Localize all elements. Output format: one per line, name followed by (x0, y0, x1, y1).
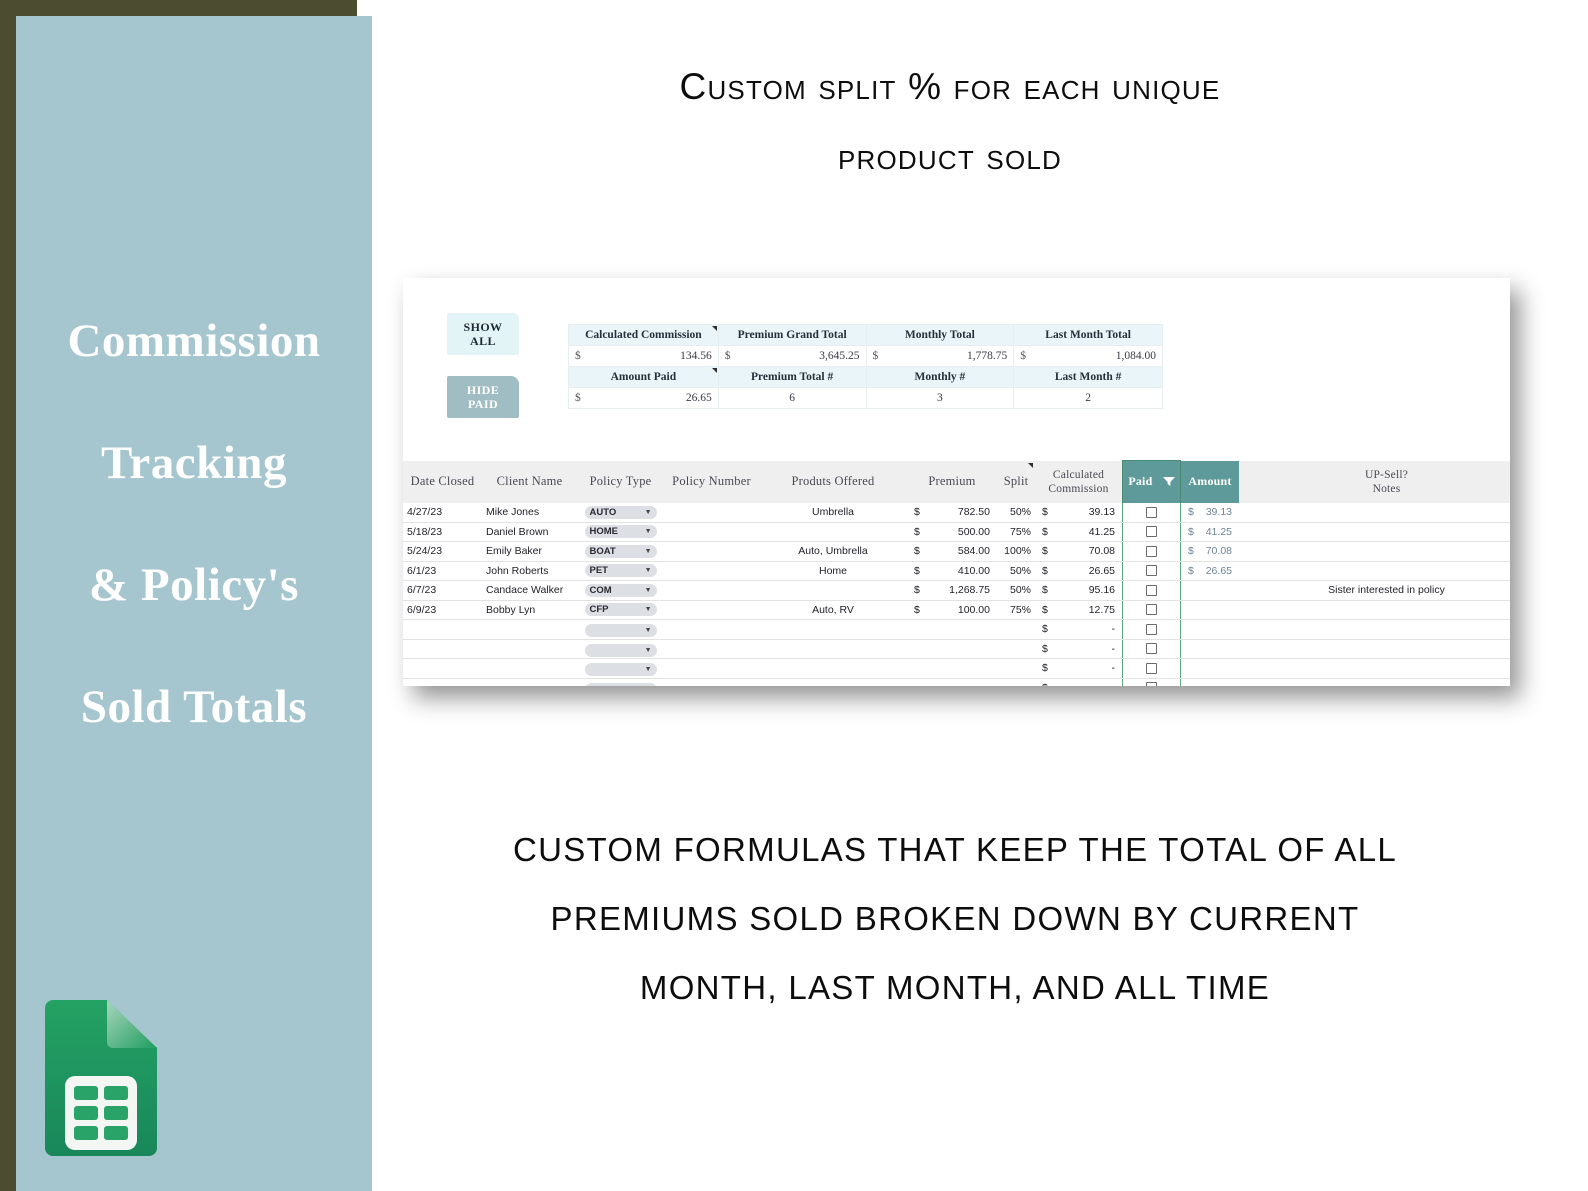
cell-split: 50% (997, 581, 1035, 601)
summary-header-calculated-commission: Calculated Commission (569, 325, 719, 346)
paid-checkbox[interactable] (1146, 585, 1157, 596)
cell-upsell-notes (1239, 542, 1510, 562)
cell-paid[interactable] (1123, 561, 1181, 581)
cell-calculated-commission: $39.13 (1035, 503, 1123, 522)
summary-value-amount-paid: $26.65 (569, 388, 719, 409)
cell-policy-number (664, 503, 759, 522)
summary-amount-premium-grand-total: 3,645.25 (819, 350, 859, 362)
cell-policy-type[interactable]: BOAT▼ (577, 542, 664, 562)
cell-date-closed: 6/1/23 (403, 561, 482, 581)
caption-line-2: PREMIUMS SOLD BROKEN DOWN BY CURRENT (400, 884, 1510, 953)
page-title-line-4: Sold Totals (16, 646, 372, 768)
policy-data-grid: Date Closed Client Name Policy Type Poli… (403, 460, 1510, 686)
cell-policy-type[interactable]: ▼ (577, 639, 664, 659)
policy-type-value: BOAT (590, 546, 616, 557)
caption-bottom: CUSTOM FORMULAS THAT KEEP THE TOTAL OF A… (400, 815, 1510, 1022)
summary-value-row-2: $26.65 6 3 2 (569, 388, 1163, 409)
premium-value: 584.00 (958, 545, 990, 557)
currency-symbol: $ (1188, 526, 1194, 538)
column-header-policy-number[interactable]: Policy Number (664, 461, 759, 504)
commission-value: - (1112, 623, 1116, 635)
cell-date-closed (403, 659, 482, 679)
chevron-down-icon: ▼ (645, 587, 652, 594)
table-row[interactable]: 4/27/23Mike JonesAUTO▼Umbrella$782.5050%… (403, 503, 1510, 522)
cell-paid[interactable] (1123, 503, 1181, 522)
currency-symbol: $ (914, 506, 920, 518)
headline-line-2: product sold (430, 122, 1470, 192)
spreadsheet-screenshot: SHOW ALL HIDE PAID Calculated Commission… (403, 278, 1510, 686)
cell-client-name (482, 659, 577, 679)
cell-premium: $584.00 (907, 542, 997, 562)
page-title-line-3: & Policy's (16, 524, 372, 646)
cell-policy-number (664, 639, 759, 659)
chevron-down-icon: ▼ (645, 509, 652, 516)
premium-value: 1,268.75 (949, 584, 990, 596)
cell-policy-type[interactable]: HOME▼ (577, 522, 664, 542)
table-row[interactable]: 5/24/23Emily BakerBOAT▼Auto, Umbrella$58… (403, 542, 1510, 562)
summary-value-calculated-commission: $134.56 (569, 346, 719, 367)
summary-value-monthly-count: 3 (866, 388, 1014, 409)
cell-calculated-commission: $- (1035, 659, 1123, 679)
table-row[interactable]: ▼$- (403, 620, 1510, 640)
summary-amount-amount-paid: 26.65 (686, 392, 712, 404)
commission-value: - (1112, 682, 1116, 686)
hide-paid-label-line-2: PAID (467, 397, 499, 411)
summary-value-last-month-count: 2 (1014, 388, 1163, 409)
paid-label: Paid (1128, 474, 1152, 488)
paid-checkbox[interactable] (1146, 507, 1157, 518)
summary-header-last-month-count: Last Month # (1014, 367, 1163, 388)
show-all-label-line-2: ALL (464, 334, 503, 348)
table-row[interactable]: ▼$- (403, 659, 1510, 679)
cell-date-closed: 4/27/23 (403, 503, 482, 522)
amount-value: 26.65 (1206, 565, 1232, 577)
summary-value-premium-grand-total: $3,645.25 (718, 346, 866, 367)
paid-checkbox[interactable] (1146, 663, 1157, 674)
cell-policy-type[interactable]: AUTO▼ (577, 503, 664, 522)
cell-date-closed: 5/18/23 (403, 522, 482, 542)
cell-client-name (482, 639, 577, 659)
policy-type-dropdown[interactable]: BOAT▼ (585, 545, 657, 558)
chevron-down-icon: ▼ (645, 647, 652, 654)
commission-value: 70.08 (1089, 545, 1115, 557)
cell-policy-number (664, 600, 759, 620)
policy-type-dropdown[interactable]: ▼ (585, 663, 657, 676)
column-header-date-closed[interactable]: Date Closed (403, 461, 482, 504)
summary-value-row-1: $134.56 $3,645.25 $1,778.75 $1,084.00 (569, 346, 1163, 367)
grid-header-row: Date Closed Client Name Policy Type Poli… (403, 461, 1510, 504)
cell-split: 75% (997, 600, 1035, 620)
column-header-client-name[interactable]: Client Name (482, 461, 577, 504)
cell-policy-type[interactable]: ▼ (577, 678, 664, 686)
cell-client-name: John Roberts (482, 561, 577, 581)
table-row[interactable]: 6/9/23Bobby LynCFP▼Auto, RV$100.0075%$12… (403, 600, 1510, 620)
table-row[interactable]: 6/7/23Candace WalkerCOM▼$1,268.7550%$95.… (403, 581, 1510, 601)
currency-symbol: $ (575, 392, 581, 404)
currency-symbol: $ (1042, 604, 1048, 616)
cell-premium: $1,268.75 (907, 581, 997, 601)
cell-split (997, 678, 1035, 686)
cell-calculated-commission: $- (1035, 639, 1123, 659)
commission-value: 12.75 (1089, 604, 1115, 616)
policy-type-value: AUTO (590, 507, 617, 518)
currency-symbol: $ (873, 350, 879, 362)
currency-symbol: $ (1042, 506, 1048, 518)
cell-paid[interactable] (1123, 620, 1181, 640)
cell-policy-number (664, 522, 759, 542)
policy-type-dropdown[interactable]: ▼ (585, 683, 657, 687)
cell-upsell-notes (1239, 522, 1510, 542)
cell-date-closed (403, 678, 482, 686)
paid-checkbox[interactable] (1146, 624, 1157, 635)
currency-symbol: $ (1042, 623, 1048, 635)
cell-split (997, 620, 1035, 640)
cell-products-offered (759, 659, 907, 679)
paid-checkbox[interactable] (1146, 643, 1157, 654)
cell-client-name (482, 678, 577, 686)
column-header-premium[interactable]: Premium (907, 461, 997, 504)
calc-comm-line-1: Calculated (1053, 469, 1104, 481)
filter-icon[interactable] (1163, 475, 1175, 490)
cell-products-offered (759, 581, 907, 601)
column-header-amount[interactable]: Amount (1181, 461, 1240, 504)
summary-header-amount-paid: Amount Paid (569, 367, 719, 388)
grid-body: 4/27/23Mike JonesAUTO▼Umbrella$782.5050%… (403, 503, 1510, 686)
paid-checkbox[interactable] (1146, 526, 1157, 537)
cell-premium: $782.50 (907, 503, 997, 522)
chevron-down-icon: ▼ (645, 606, 652, 613)
cell-split: 75% (997, 522, 1035, 542)
cell-products-offered: Auto, Umbrella (759, 542, 907, 562)
column-header-policy-type[interactable]: Policy Type (577, 461, 664, 504)
cell-premium (907, 639, 997, 659)
table-row[interactable]: 5/18/23Daniel BrownHOME▼$500.0075%$41.25… (403, 522, 1510, 542)
currency-symbol: $ (1020, 350, 1026, 362)
cell-date-closed: 6/9/23 (403, 600, 482, 620)
chevron-down-icon: ▼ (645, 686, 652, 687)
summary-header-monthly-count: Monthly # (866, 367, 1014, 388)
table-row[interactable]: ▼$- (403, 678, 1510, 686)
column-header-calculated-commission[interactable]: Calculated Commission (1035, 461, 1123, 504)
cell-premium: $500.00 (907, 522, 997, 542)
cell-amount: $41.25 (1181, 522, 1240, 542)
column-header-products-offered[interactable]: Produts Offered (759, 461, 907, 504)
commission-value: 95.16 (1089, 584, 1115, 596)
cell-upsell-notes (1239, 639, 1510, 659)
google-sheets-icon (33, 990, 169, 1165)
paid-checkbox[interactable] (1146, 546, 1157, 557)
cell-date-closed: 5/24/23 (403, 542, 482, 562)
summary-amount-last-month-total: 1,084.00 (1116, 350, 1156, 362)
caption-line-1: CUSTOM FORMULAS THAT KEEP THE TOTAL OF A… (400, 815, 1510, 884)
cell-paid[interactable] (1123, 678, 1181, 686)
cell-paid[interactable] (1123, 659, 1181, 679)
cell-premium (907, 678, 997, 686)
headline-top: Custom split % for each unique product s… (430, 52, 1470, 192)
chevron-down-icon: ▼ (645, 627, 652, 634)
paid-checkbox[interactable] (1146, 682, 1157, 686)
olive-backing-strip-left (0, 0, 16, 1191)
cell-paid[interactable] (1123, 522, 1181, 542)
cell-amount (1181, 639, 1240, 659)
summary-totals-table: Calculated Commission Premium Grand Tota… (568, 324, 1163, 409)
cell-upsell-notes (1239, 620, 1510, 640)
policy-type-dropdown[interactable]: ▼ (585, 644, 657, 657)
commission-value: 41.25 (1089, 526, 1115, 538)
currency-symbol: $ (1042, 526, 1048, 538)
cell-client-name: Candace Walker (482, 581, 577, 601)
page-title: Commission Tracking & Policy's Sold Tota… (16, 280, 372, 768)
cell-calculated-commission: $12.75 (1035, 600, 1123, 620)
amount-value: 70.08 (1206, 545, 1232, 557)
premium-value: 410.00 (958, 565, 990, 577)
policy-type-dropdown[interactable]: CFP▼ (585, 603, 657, 616)
cell-paid[interactable] (1123, 542, 1181, 562)
hide-paid-button[interactable]: HIDE PAID (447, 376, 519, 418)
cell-calculated-commission: $95.16 (1035, 581, 1123, 601)
cell-premium: $410.00 (907, 561, 997, 581)
premium-value: 500.00 (958, 526, 990, 538)
cell-calculated-commission: $26.65 (1035, 561, 1123, 581)
policy-type-dropdown[interactable]: AUTO▼ (585, 506, 657, 519)
cell-date-closed: 6/7/23 (403, 581, 482, 601)
cell-amount (1181, 620, 1240, 640)
chevron-down-icon: ▼ (645, 548, 652, 555)
currency-symbol: $ (1042, 584, 1048, 596)
cell-upsell-notes (1239, 561, 1510, 581)
cell-amount (1181, 600, 1240, 620)
cell-amount (1181, 659, 1240, 679)
cell-products-offered: Home (759, 561, 907, 581)
currency-symbol: $ (914, 584, 920, 596)
policy-type-dropdown[interactable]: PET▼ (585, 564, 657, 577)
summary-value-last-month-total: $1,084.00 (1014, 346, 1163, 367)
cell-products-offered (759, 678, 907, 686)
upsell-line-2: Notes (1373, 483, 1401, 495)
show-all-label-line-1: SHOW (464, 320, 503, 334)
amount-value: 41.25 (1206, 526, 1232, 538)
caption-line-3: MONTH, LAST MONTH, AND ALL TIME (400, 953, 1510, 1022)
currency-symbol: $ (914, 545, 920, 557)
summary-header-premium-grand-total: Premium Grand Total (718, 325, 866, 346)
hide-paid-label-line-1: HIDE (467, 383, 499, 397)
currency-symbol: $ (1188, 565, 1194, 577)
cell-products-offered (759, 639, 907, 659)
policy-type-value: CFP (590, 604, 609, 615)
chevron-down-icon: ▼ (645, 528, 652, 535)
cell-amount: $70.08 (1181, 542, 1240, 562)
summary-header-row-2: Amount Paid Premium Total # Monthly # La… (569, 367, 1163, 388)
currency-symbol: $ (1188, 545, 1194, 557)
paid-checkbox[interactable] (1146, 604, 1157, 615)
cell-paid[interactable] (1123, 639, 1181, 659)
cell-amount: $26.65 (1181, 561, 1240, 581)
commission-value: - (1112, 662, 1116, 674)
cell-premium (907, 659, 997, 679)
amount-value: 39.13 (1206, 506, 1232, 518)
currency-symbol: $ (1042, 643, 1048, 655)
currency-symbol: $ (1042, 682, 1048, 686)
chevron-down-icon: ▼ (645, 567, 652, 574)
cell-policy-number (664, 620, 759, 640)
summary-amount-monthly-total: 1,778.75 (967, 350, 1007, 362)
cell-client-name: Mike Jones (482, 503, 577, 522)
currency-symbol: $ (1042, 662, 1048, 674)
headline-line-1: Custom split % for each unique (430, 52, 1470, 122)
currency-symbol: $ (914, 565, 920, 577)
cell-amount (1181, 581, 1240, 601)
show-all-button[interactable]: SHOW ALL (447, 313, 519, 355)
column-header-paid[interactable]: Paid (1123, 461, 1181, 504)
cell-split: 50% (997, 561, 1035, 581)
currency-symbol: $ (914, 604, 920, 616)
chevron-down-icon: ▼ (645, 666, 652, 673)
cell-products-offered: Umbrella (759, 503, 907, 522)
cell-upsell-notes (1239, 659, 1510, 679)
calc-comm-line-2: Commission (1048, 483, 1108, 495)
cell-policy-number (664, 561, 759, 581)
column-header-split[interactable]: Split (997, 461, 1035, 504)
premium-value: 100.00 (958, 604, 990, 616)
page-title-line-1: Commission (16, 280, 372, 402)
summary-amount-calculated-commission: 134.56 (680, 350, 712, 362)
cell-policy-type[interactable]: COM▼ (577, 581, 664, 601)
cell-policy-type[interactable]: PET▼ (577, 561, 664, 581)
cell-split (997, 639, 1035, 659)
cell-policy-type[interactable]: ▼ (577, 659, 664, 679)
commission-value: 26.65 (1089, 565, 1115, 577)
cell-client-name: Emily Baker (482, 542, 577, 562)
cell-policy-number (664, 659, 759, 679)
cell-upsell-notes (1239, 503, 1510, 522)
cell-upsell-notes: Sister interested in policy (1239, 581, 1510, 601)
cell-client-name (482, 620, 577, 640)
policy-type-value: HOME (590, 526, 619, 537)
cell-calculated-commission: $70.08 (1035, 542, 1123, 562)
summary-header-last-month-total: Last Month Total (1014, 325, 1163, 346)
cell-policy-number (664, 581, 759, 601)
summary-header-row-1: Calculated Commission Premium Grand Tota… (569, 325, 1163, 346)
currency-symbol: $ (725, 350, 731, 362)
page-title-line-2: Tracking (16, 402, 372, 524)
cell-policy-type[interactable]: CFP▼ (577, 600, 664, 620)
cell-date-closed (403, 620, 482, 640)
cell-calculated-commission: $41.25 (1035, 522, 1123, 542)
cell-calculated-commission: $- (1035, 620, 1123, 640)
cell-premium (907, 620, 997, 640)
cell-policy-number (664, 542, 759, 562)
cell-amount: $39.13 (1181, 503, 1240, 522)
cell-policy-number (664, 678, 759, 686)
policy-type-value: COM (590, 585, 612, 596)
cell-paid[interactable] (1123, 600, 1181, 620)
cell-premium: $100.00 (907, 600, 997, 620)
cell-amount (1181, 678, 1240, 686)
premium-value: 782.50 (958, 506, 990, 518)
cell-date-closed (403, 639, 482, 659)
upsell-line-1: UP-Sell? (1365, 469, 1408, 481)
cell-client-name: Bobby Lyn (482, 600, 577, 620)
table-row[interactable]: ▼$- (403, 639, 1510, 659)
summary-header-premium-total-count: Premium Total # (718, 367, 866, 388)
cell-products-offered (759, 522, 907, 542)
table-row[interactable]: 6/1/23John RobertsPET▼Home$410.0050%$26.… (403, 561, 1510, 581)
policy-type-dropdown[interactable]: COM▼ (585, 584, 657, 597)
cell-paid[interactable] (1123, 581, 1181, 601)
paid-checkbox[interactable] (1146, 565, 1157, 576)
column-header-upsell-notes[interactable]: UP-Sell? Notes (1239, 461, 1510, 504)
currency-symbol: $ (914, 526, 920, 538)
policy-type-dropdown[interactable]: ▼ (585, 624, 657, 637)
currency-symbol: $ (1042, 565, 1048, 577)
currency-symbol: $ (575, 350, 581, 362)
cell-upsell-notes (1239, 600, 1510, 620)
policy-type-dropdown[interactable]: HOME▼ (585, 525, 657, 538)
policy-type-value: PET (590, 565, 608, 576)
cell-split: 100% (997, 542, 1035, 562)
summary-value-monthly-total: $1,778.75 (866, 346, 1014, 367)
cell-products-offered: Auto, RV (759, 600, 907, 620)
cell-split: 50% (997, 503, 1035, 522)
currency-symbol: $ (1188, 506, 1194, 518)
cell-upsell-notes (1239, 678, 1510, 686)
cell-client-name: Daniel Brown (482, 522, 577, 542)
cell-products-offered (759, 620, 907, 640)
commission-value: 39.13 (1089, 506, 1115, 518)
summary-header-monthly-total: Monthly Total (866, 325, 1014, 346)
cell-split (997, 659, 1035, 679)
commission-value: - (1112, 643, 1116, 655)
cell-calculated-commission: $- (1035, 678, 1123, 686)
currency-symbol: $ (1042, 545, 1048, 557)
summary-value-premium-total-count: 6 (718, 388, 866, 409)
cell-policy-type[interactable]: ▼ (577, 620, 664, 640)
